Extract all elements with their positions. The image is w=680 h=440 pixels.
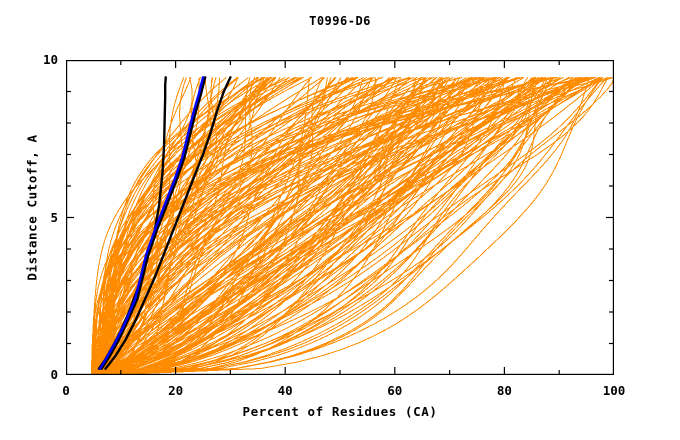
x-tick-label: 60 [365, 383, 425, 398]
x-tick-label: 100 [584, 383, 644, 398]
model-curves-group [90, 77, 614, 375]
x-tick-label: 0 [36, 383, 96, 398]
chart-title: T0996-D6 [0, 14, 680, 28]
y-tick-label: 5 [18, 210, 58, 225]
x-tick-label: 80 [474, 383, 534, 398]
y-axis-label: Distance Cutoff, A [25, 98, 40, 318]
x-tick-label: 20 [146, 383, 206, 398]
x-axis-label: Percent of Residues (CA) [0, 404, 680, 419]
x-tick-label: 40 [255, 383, 315, 398]
plot-area [66, 60, 614, 375]
y-tick-label: 10 [18, 52, 58, 67]
plot-svg [66, 60, 614, 375]
chart-root: T0996-D6 Distance Cutoff, A Percent of R… [0, 0, 680, 440]
y-tick-label: 0 [18, 367, 58, 382]
